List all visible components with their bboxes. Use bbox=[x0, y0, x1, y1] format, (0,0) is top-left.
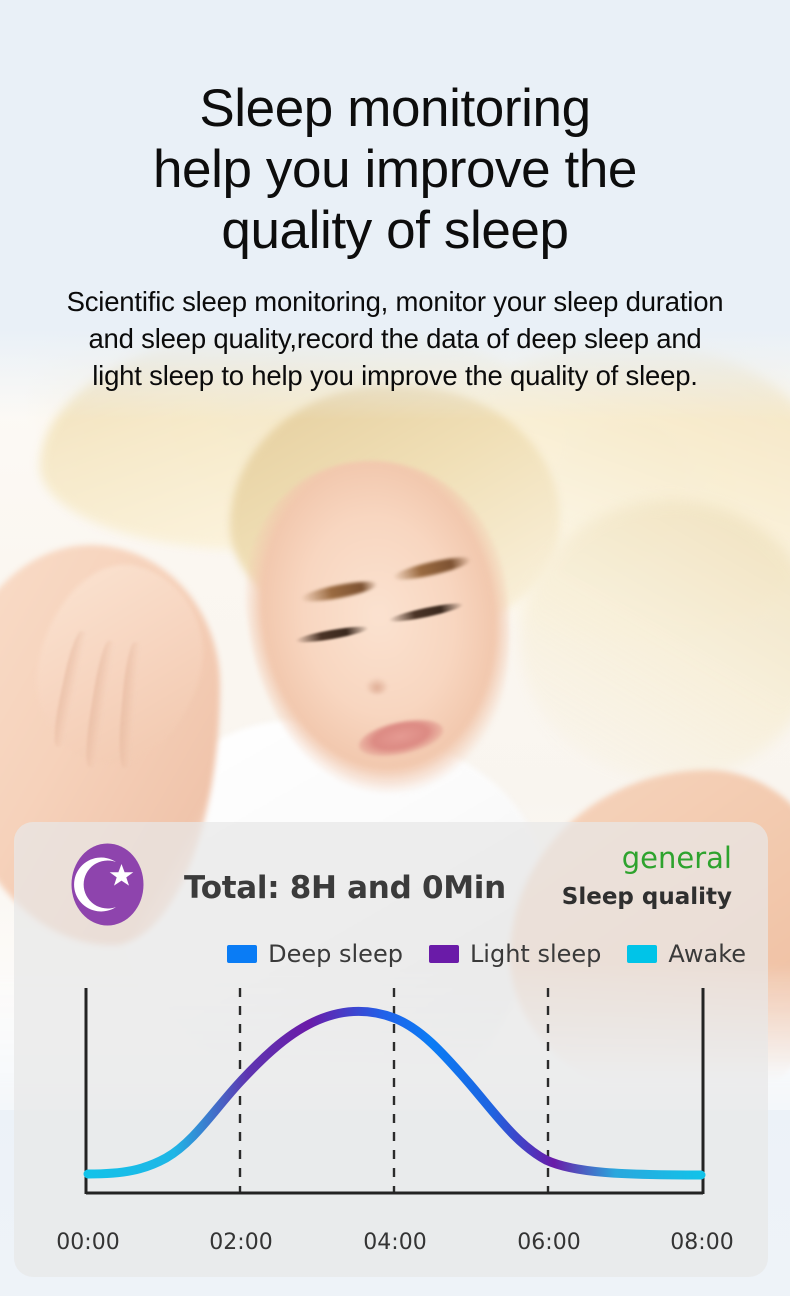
legend-item-awake: Awake bbox=[627, 940, 746, 968]
header-block: Sleep monitoring help you improve the qu… bbox=[0, 0, 790, 394]
legend-item-deep-sleep: Deep sleep bbox=[227, 940, 403, 968]
subtitle-line-2: and sleep quality,record the data of dee… bbox=[14, 320, 776, 357]
legend-swatch-light-sleep bbox=[429, 945, 459, 963]
legend-swatch-awake bbox=[627, 945, 657, 963]
sleep-quality-label: Sleep quality bbox=[562, 880, 732, 914]
legend-swatch-deep-sleep bbox=[227, 945, 257, 963]
legend-label-light-sleep: Light sleep bbox=[470, 940, 601, 968]
x-label-0400: 04:00 bbox=[363, 1230, 426, 1255]
sleep-chart: 00:00 02:00 04:00 06:00 08:00 bbox=[14, 982, 768, 1277]
legend-item-light-sleep: Light sleep bbox=[429, 940, 601, 968]
legend-label-deep-sleep: Deep sleep bbox=[268, 940, 403, 968]
moon-star-icon bbox=[70, 842, 145, 927]
title-line-3: quality of sleep bbox=[0, 200, 790, 261]
sleep-quality-block: general Sleep quality bbox=[562, 840, 732, 914]
title-line-1: Sleep monitoring bbox=[0, 78, 790, 139]
sleep-card-header: Total: 8H and 0Min general Sleep quality bbox=[14, 822, 768, 947]
nose bbox=[366, 678, 388, 694]
total-sleep-duration: Total: 8H and 0Min bbox=[184, 870, 506, 906]
chart-legend: Deep sleep Light sleep Awake bbox=[14, 940, 768, 968]
page-subtitle: Scientific sleep monitoring, monitor you… bbox=[0, 283, 790, 394]
subtitle-line-1: Scientific sleep monitoring, monitor you… bbox=[14, 283, 776, 320]
sleep-summary-card: Total: 8H and 0Min general Sleep quality… bbox=[14, 822, 768, 1277]
legend-label-awake: Awake bbox=[668, 940, 746, 968]
sleep-chart-svg bbox=[14, 982, 768, 1232]
chart-x-axis-labels: 00:00 02:00 04:00 06:00 08:00 bbox=[14, 1230, 768, 1270]
sleep-monitoring-page: Sleep monitoring help you improve the qu… bbox=[0, 0, 790, 1296]
x-label-0200: 02:00 bbox=[209, 1230, 272, 1255]
subtitle-line-3: light sleep to help you improve the qual… bbox=[14, 357, 776, 394]
x-label-0600: 06:00 bbox=[517, 1230, 580, 1255]
x-label-0800: 08:00 bbox=[670, 1230, 733, 1255]
sleep-quality-value: general bbox=[562, 840, 732, 876]
x-label-0000: 00:00 bbox=[56, 1230, 119, 1255]
page-title: Sleep monitoring help you improve the qu… bbox=[0, 78, 790, 261]
title-line-2: help you improve the bbox=[0, 139, 790, 200]
